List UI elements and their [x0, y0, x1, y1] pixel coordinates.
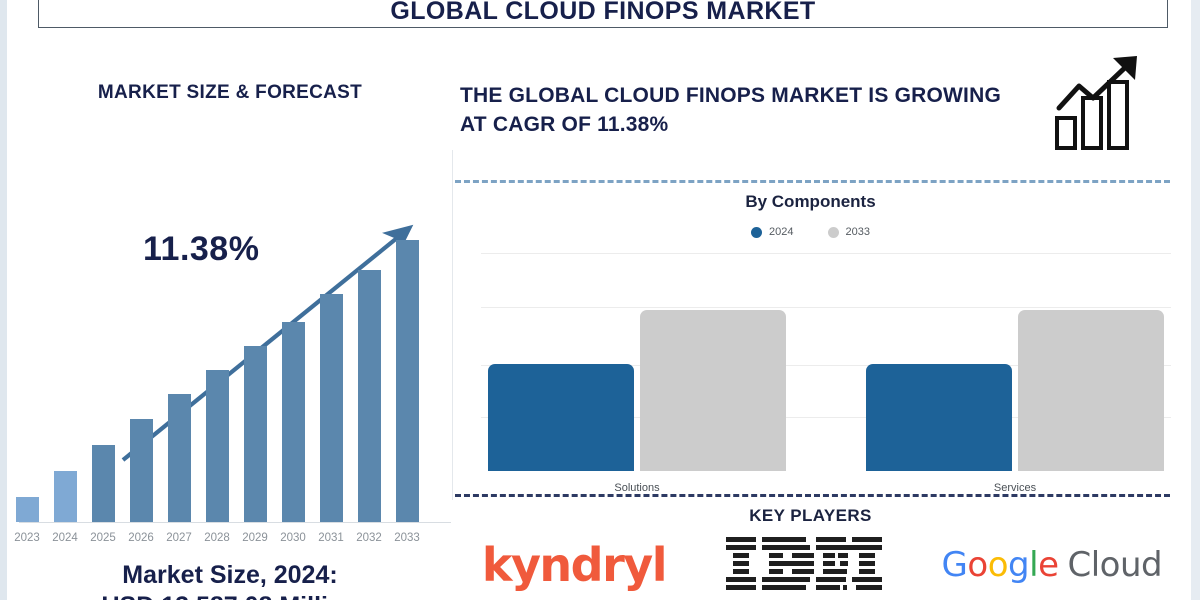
market-size-bar-2024: [54, 471, 77, 522]
chart-baseline: [19, 522, 451, 523]
year-label-2030: 2030: [274, 532, 312, 544]
legend-label-2033: 2033: [846, 226, 870, 238]
by-components-legend: 20242033: [453, 226, 1168, 238]
market-size-bar-2033: [396, 240, 419, 522]
components-bar-Services-2033: [1018, 310, 1164, 471]
growth-statement: THE GLOBAL CLOUD FINOPS MARKET IS GROWIN…: [460, 82, 1030, 140]
right-edge-strip: [1191, 0, 1200, 600]
year-label-2024: 2024: [46, 532, 84, 544]
market-size-bar-2031: [320, 294, 343, 522]
google-cloud-logo: GoogleCloud: [942, 545, 1163, 585]
legend-item-2033[interactable]: 2033: [828, 226, 870, 238]
year-label-2029: 2029: [236, 532, 274, 544]
market-size-bar-2027: [168, 394, 191, 522]
year-label-2023: 2023: [8, 532, 46, 544]
components-bar-Solutions-2024: [488, 364, 634, 471]
market-size-bar-chart: [7, 190, 453, 530]
section-divider-bottom: [455, 494, 1170, 497]
components-bar-Services-2024: [866, 364, 1012, 471]
year-label-2032: 2032: [350, 532, 388, 544]
market-size-bar-2029: [244, 346, 267, 522]
market-size-label: Market Size, 2024:: [7, 560, 453, 591]
key-players-logo-row: kyndryl: [453, 530, 1191, 600]
legend-label-2024: 2024: [769, 226, 793, 238]
ibm-logo: [724, 535, 884, 595]
year-label-2033: 2033: [388, 532, 426, 544]
market-size-bar-2028: [206, 370, 229, 522]
market-size-forecast-heading: MARKET SIZE & FORECAST: [7, 82, 453, 104]
market-size-bar-2025: [92, 445, 115, 522]
market-size-value: USD 13,587.08 Million: [7, 591, 453, 600]
google-cloud-wordmark: GoogleCloud: [942, 545, 1163, 585]
year-label-2026: 2026: [122, 532, 160, 544]
legend-item-2024[interactable]: 2024: [751, 226, 793, 238]
infographic-page: GLOBAL CLOUD FINOPS MARKET MARKET SIZE &…: [0, 0, 1200, 600]
kyndryl-wordmark: kyndryl: [482, 538, 666, 592]
by-components-bar-chart: SolutionsServices: [453, 250, 1168, 500]
market-size-bar-2026: [130, 419, 153, 522]
year-axis: 2023202420252026202720282029203020312032…: [7, 532, 453, 552]
market-insights-panel: THE GLOBAL CLOUD FINOPS MARKET IS GROWIN…: [453, 0, 1191, 600]
year-label-2027: 2027: [160, 532, 198, 544]
market-size-forecast-panel: MARKET SIZE & FORECAST 11.38% 2023202420…: [7, 30, 453, 600]
legend-dot-2033: [828, 227, 839, 238]
left-edge-strip: [0, 0, 7, 600]
market-size-callout: Market Size, 2024: USD 13,587.08 Million: [7, 560, 453, 600]
gridline-1: [481, 307, 1171, 308]
market-size-bar-2030: [282, 322, 305, 522]
components-bar-Solutions-2033: [640, 310, 786, 471]
market-size-bar-2032: [358, 270, 381, 522]
legend-dot-2024: [751, 227, 762, 238]
section-divider-top: [455, 180, 1170, 183]
gridline-0: [481, 253, 1171, 254]
year-label-2025: 2025: [84, 532, 122, 544]
year-label-2028: 2028: [198, 532, 236, 544]
category-label-Solutions: Solutions: [488, 482, 786, 494]
kyndryl-logo: kyndryl: [482, 538, 666, 592]
year-label-2031: 2031: [312, 532, 350, 544]
category-label-Services: Services: [866, 482, 1164, 494]
market-size-bar-2023: [16, 497, 39, 522]
key-players-title: KEY PLAYERS: [453, 506, 1168, 526]
by-components-title: By Components: [453, 192, 1168, 212]
ibm-wordmark: [724, 535, 884, 595]
bar-chart-growth-arrow-icon: [1053, 52, 1149, 152]
